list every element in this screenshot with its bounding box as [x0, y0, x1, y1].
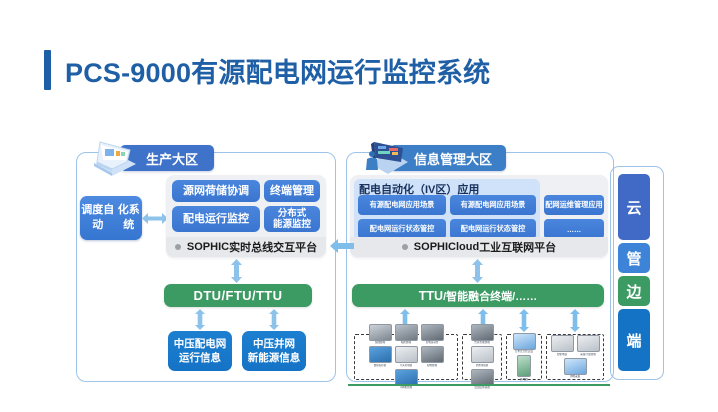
monitor-operator-icon [356, 134, 410, 178]
device-group-sensing: 台区智能终端 状态传感器 温湿度传感器 [462, 334, 502, 380]
pv-inverter-icon [513, 333, 536, 350]
mv-distribution-info-box[interactable]: 中压配电网 运行信息 [168, 331, 232, 371]
device-item: 采集计量终端 [576, 335, 600, 357]
device-caption: 故障指示器 [374, 364, 387, 368]
mv-renewable-line-1: 中压并网 [253, 337, 295, 351]
page-title: PCS-9000有源配电网运行监控系统 [44, 50, 490, 90]
layer-label-terminal[interactable]: 端 [618, 309, 650, 371]
device-item: 台区智能终端 [470, 324, 494, 346]
smart-meter-icon [551, 335, 574, 352]
sophicloud-suffix: 工业互联网平台 [479, 239, 556, 255]
mv-distribution-line-2: 运行信息 [179, 351, 221, 365]
app-button-distributed-line-2: 能源监控 [273, 219, 311, 230]
controller-device-icon [421, 324, 444, 341]
sophic-platform-bar: SOPHIC 实时总线交互平台 [166, 237, 326, 257]
sophic-suffix: 实时总线交互平台 [229, 239, 317, 255]
device-caption: 台区智能终端 [474, 341, 490, 345]
app-button-distributed-energy-monitoring[interactable]: 分布式 能源监控 [264, 206, 320, 232]
device-group-metering: 智能电表 采集计量终端 用电采集 [546, 334, 604, 380]
slide-canvas: PCS-9000有源配电网运行监控系统 生产大区 信息管理大区 调度自动 化系统 [0, 0, 718, 412]
vertical-arrow-devices-4 [568, 309, 582, 332]
device-item: 开关控制器 [394, 346, 418, 368]
laptop-dashboard-icon [84, 138, 140, 178]
sophic-brand: SOPHIC [187, 241, 229, 253]
device-caption: 智能电表 [557, 353, 567, 357]
vertical-arrow-right-platform [470, 259, 485, 283]
title-accent-bar [44, 50, 51, 90]
device-caption: 配电终端 [427, 364, 437, 368]
app-button-distributed-line-1: 分布式 [278, 208, 307, 219]
app-button-terminal-management[interactable]: 终端管理 [264, 180, 320, 202]
device-item: 用电采集 [563, 358, 587, 380]
app-button-active-grid-scenario-1[interactable]: 有源配电网应用场景 [358, 195, 446, 215]
title-text: PCS-9000有源配电网运行监控系统 [65, 51, 490, 90]
app-button-ops-management[interactable]: 配网运维管理应用 [544, 195, 604, 215]
device-caption: 充电桩 [520, 378, 528, 382]
bidirectional-arrow-dispatch [142, 211, 168, 226]
app-button-grid-status-control-2[interactable]: 配电网运行状态管控 [450, 219, 536, 239]
device-caption: 开关控制器 [400, 364, 413, 368]
vertical-arrow-info-2 [267, 309, 281, 330]
device-caption: 环网柜终端 [400, 386, 413, 390]
mv-renewable-info-box[interactable]: 中压并网 新能源信息 [242, 331, 306, 371]
state-sensor-icon [471, 346, 494, 363]
monitor-device-icon [369, 324, 392, 341]
device-caption: 站所终端 [401, 341, 411, 345]
device-item: 充电桩 [512, 355, 536, 382]
layer-label-edge[interactable]: 边 [618, 276, 650, 306]
power-collection-icon [564, 358, 587, 375]
dtu-ftu-ttu-bar: DTU/FTU/TTU [164, 284, 312, 307]
ttu-terminal-bar: TTU /智能融合终端/…… [352, 284, 604, 307]
device-item: 状态传感器 [470, 346, 494, 368]
device-caption: 状态传感器 [476, 364, 489, 368]
device-group-charging: 分布式光伏逆变 充电桩 [506, 334, 542, 380]
sophicloud-brand: SOPHICloud [414, 241, 479, 253]
device-caption: 采集计量终端 [580, 353, 596, 357]
cross-zone-arrow [330, 238, 354, 254]
device-item: 配电终端 [420, 346, 444, 368]
server-device-icon [395, 324, 418, 341]
device-caption: 分布式光伏逆变 [515, 350, 533, 354]
indicator-device-icon [369, 346, 392, 363]
device-caption: 用电采集 [570, 375, 580, 379]
mv-distribution-line-1: 中压配电网 [174, 337, 227, 351]
sophicloud-platform-bar: SOPHICloud 工业互联网平台 [350, 237, 608, 257]
dispatch-automation-box[interactable]: 调度自动 化系统 [80, 196, 142, 240]
device-caption: 馈线终端 [375, 341, 385, 345]
layer-label-cloud[interactable]: 云 [618, 174, 650, 240]
area-terminal-icon [471, 324, 494, 341]
app-button-source-grid-load-storage[interactable]: 源网荷储协调 [172, 180, 260, 202]
switch-controller-icon [395, 346, 418, 363]
vertical-arrow-info-1 [193, 309, 207, 330]
layer-label-pipe[interactable]: 管 [618, 243, 650, 273]
device-item: 故障指示器 [368, 346, 392, 368]
device-item: 分布式光伏逆变 [512, 333, 536, 355]
app-button-active-grid-scenario-2[interactable]: 有源配电网应用场景 [450, 195, 536, 215]
platform-bullet-icon [175, 244, 181, 250]
device-caption: 温湿度传感器 [474, 386, 490, 390]
device-item: 智能电表 [550, 335, 574, 357]
platform-bullet-icon [402, 244, 408, 250]
device-group-distribution-terminals: 馈线终端 站所终端 配电自动化 故障指示器 开关控制器 配电终端 环网柜终端 [354, 334, 458, 380]
device-caption: 配电自动化 [426, 341, 439, 345]
ttu-suffix: /智能融合终端/…… [443, 288, 537, 304]
vertical-arrow-left-platform [229, 259, 244, 283]
mv-renewable-line-2: 新能源信息 [248, 351, 301, 365]
distribution-terminal-icon [421, 346, 444, 363]
device-item: 馈线终端 [368, 324, 392, 346]
app-button-more[interactable]: …… [544, 219, 604, 239]
metering-terminal-icon [577, 335, 600, 352]
device-item: 环网柜终端 [394, 369, 418, 391]
app-button-grid-status-control-1[interactable]: 配电网运行状态管控 [358, 219, 446, 239]
device-item: 站所终端 [394, 324, 418, 346]
dispatch-line-1: 调度自动 [80, 203, 115, 233]
app-button-distribution-monitoring[interactable]: 配电运行监控 [172, 206, 260, 232]
bottom-divider [348, 384, 610, 386]
charging-pile-icon [517, 355, 531, 377]
dispatch-line-2: 化系统 [115, 203, 142, 233]
ttu-brand: TTU [419, 289, 443, 303]
vertical-arrow-devices-3 [517, 309, 531, 332]
device-item: 配电自动化 [420, 324, 444, 346]
device-item: 温湿度传感器 [470, 369, 494, 391]
